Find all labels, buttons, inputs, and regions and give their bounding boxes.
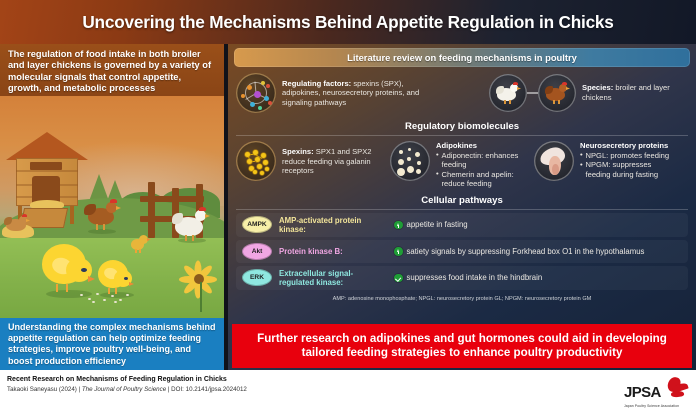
citation-doi: | DOI: 10.2141/jpsa.2024012 [166,386,247,393]
hen-comb [199,207,206,211]
species-connector [527,92,538,93]
coop-plank [16,170,78,172]
section-header-pathways: Cellular pathways [228,193,696,209]
divider [236,209,688,210]
spexins-label: Spexins: [282,147,314,156]
molecule-node [254,91,261,98]
hen-head [19,216,27,224]
section-header-literature-label: Literature review on feeding mechanisms … [347,52,577,63]
pathway-effect-erk: suppresses food intake in the hindbrain [394,273,542,282]
spexin-graphic [236,141,276,181]
hen-leg [103,224,105,230]
pathway-effect-text: satiety signals by suppressing Forkhead … [407,247,645,256]
chick-leg [139,249,141,253]
molecule-node [266,84,270,88]
molecule-node [268,101,272,105]
page-title: Uncovering the Mechanisms Behind Appetit… [82,12,613,33]
chick-leg [66,284,68,292]
list-item: NPGL: promotes feeding [580,151,674,161]
chick-eye [81,268,87,272]
literature-row: Regulating factors: spexins (SPX), adipo… [228,67,696,117]
citation-journal: The Journal of Poultry Science [82,386,166,393]
jpsa-logo-subtitle: Japan Poultry Science Association [624,404,679,408]
key-takeaway-text: Further research on adipokines and gut h… [242,332,682,361]
fence-post [148,182,155,238]
pathway-row-akt: Akt Protein kinase B: satiety signals by… [236,240,688,263]
molecule-node [247,85,252,90]
biomolecules-row: Spexins: SPX1 and SPX2 reduce feeding vi… [228,136,696,193]
neurosecretory-graphic [534,141,574,181]
adipokines-heading: Adipokines [436,141,522,151]
hen-comb [110,199,117,203]
conclusion-callout: Understanding the complex mechanisms beh… [0,318,224,370]
hen-head [106,202,117,213]
neurosecretory-gland-icon [534,141,574,181]
seed-scatter [78,292,134,304]
section-header-biomolecules: Regulatory biomolecules [228,117,696,135]
check-icon [394,274,403,283]
hen-beak [205,214,210,218]
chick-beak [129,282,134,286]
molecule-icon [236,73,276,113]
chick-head [139,235,148,244]
adipokines-text: Adipokines Adiponectin: enhances feeding… [436,141,522,189]
spexins-text: Spexins: SPX1 and SPX2 reduce feeding vi… [282,141,376,176]
adipocyte-cells-icon [390,141,430,181]
hen-icon [84,200,122,232]
regulating-factors-text: Regulating factors: spexins (SPX), adipo… [282,79,442,108]
neurosecretory-list: NPGL: promotes feeding NPGM: suppresses … [580,151,674,180]
footer-bar: Recent Research on Mechanisms of Feeding… [0,370,696,414]
hen-beak [26,219,30,222]
molecule-node [261,81,265,85]
hen-icon [4,214,30,232]
coop-leg [70,206,74,224]
species-label: Species: [582,83,613,92]
brown-hen-graphic [545,83,571,105]
species-text: Species: broiler and layer chickens [582,83,688,102]
left-column: The regulation of food intake in both br… [0,44,224,370]
neurosecretory-text: Neurosecretory proteins NPGL: promotes f… [580,141,674,179]
hen-leg [96,224,98,230]
badge-erk: ERK [242,269,272,286]
hen-leg [192,235,194,241]
hen-head [195,210,206,221]
badge-akt: Akt [242,243,272,260]
chick-leg [56,284,58,292]
hen-leg [185,235,187,241]
list-item: Adiponectin: enhances feeding [436,151,522,170]
jpsa-bird-icon [658,375,688,401]
molecule-node [250,102,255,107]
pathway-effect-text: suppresses food intake in the hindbrain [407,273,543,282]
chick-eye [124,277,128,280]
regulating-factors-label: Regulating factors: [282,79,351,88]
key-takeaway-banner: Further research on adipokines and gut h… [232,324,692,368]
gland-tip [552,164,558,175]
conclusion-text: Understanding the complex mechanisms beh… [8,322,216,367]
jpsa-logo: JPSA Japan Poultry Science Association [624,375,690,409]
study-title: Recent Research on Mechanisms of Feeding… [7,376,227,383]
coop-window [30,162,62,170]
hen-shadow [88,229,116,234]
abbreviations-note: AMP: adenosine monophosphate; NPGL: neur… [228,293,696,304]
pathway-effect-text: appetite in fasting [407,220,468,229]
right-panel: Literature review on feeding mechanisms … [228,44,696,370]
intro-text: The regulation of food intake in both br… [8,49,216,95]
molecule-node [264,96,269,101]
hen-icon [172,208,212,242]
neurosecretory-heading: Neurosecretory proteins [580,141,674,151]
pathway-effect-akt: satiety signals by suppressing Forkhead … [394,247,644,256]
pathway-effect-ampk: appetite in fasting [394,220,468,229]
white-hen-icon [489,74,527,112]
chick-beak [88,276,95,282]
pathway-row-erk: ERK Extracellular signal-regulated kinas… [236,266,688,290]
farm-chickens-illustration [0,96,224,318]
up-arrow-icon [394,247,403,256]
molecule-node [241,94,245,98]
badge-ampk: AMPK [242,216,272,233]
list-item: Chemerin and apelin: reduce feeding [436,170,522,189]
intro-callout: The regulation of food intake in both br… [0,44,224,96]
jpsa-logo-text: JPSA [624,384,661,401]
pathway-name-ampk: AMP-activated protein kinase: [279,216,387,234]
chick-icon [40,236,102,298]
spexin-molecule-icon [236,141,276,181]
infographic-poster: Uncovering the Mechanisms Behind Appetit… [0,0,696,414]
sunflower-icon [170,256,222,312]
up-arrow-icon [394,221,403,230]
title-bar: Uncovering the Mechanisms Behind Appetit… [0,0,696,44]
chick-leg [135,249,137,253]
list-item: NPGM: suppresses feeding during fasting [580,160,674,179]
molecule-node [258,106,262,110]
chick-icon [130,234,150,252]
adipokines-list: Adiponectin: enhances feeding Chemerin a… [436,151,522,189]
pathway-row-ampk: AMPK AMP-activated protein kinase: appet… [236,213,688,237]
adipocyte-graphic [390,141,430,181]
species-block: Species: broiler and layer chickens [489,74,688,112]
brown-hen-icon [538,74,576,112]
molecule-graphic [236,73,276,113]
hen-comb [22,214,27,217]
citation-author: Takaoki Saneyasu (2024) | [7,386,82,393]
pathway-name-erk: Extracellular signal-regulated kinase: [279,269,387,287]
fence-rail [140,196,204,202]
citation-line: Takaoki Saneyasu (2024) | The Journal of… [7,386,247,393]
coop-roof [6,132,88,160]
hen-beak [116,206,121,210]
pathway-name-akt: Protein kinase B: [279,247,387,256]
white-hen-graphic [496,83,522,105]
section-header-literature: Literature review on feeding mechanisms … [234,48,690,67]
